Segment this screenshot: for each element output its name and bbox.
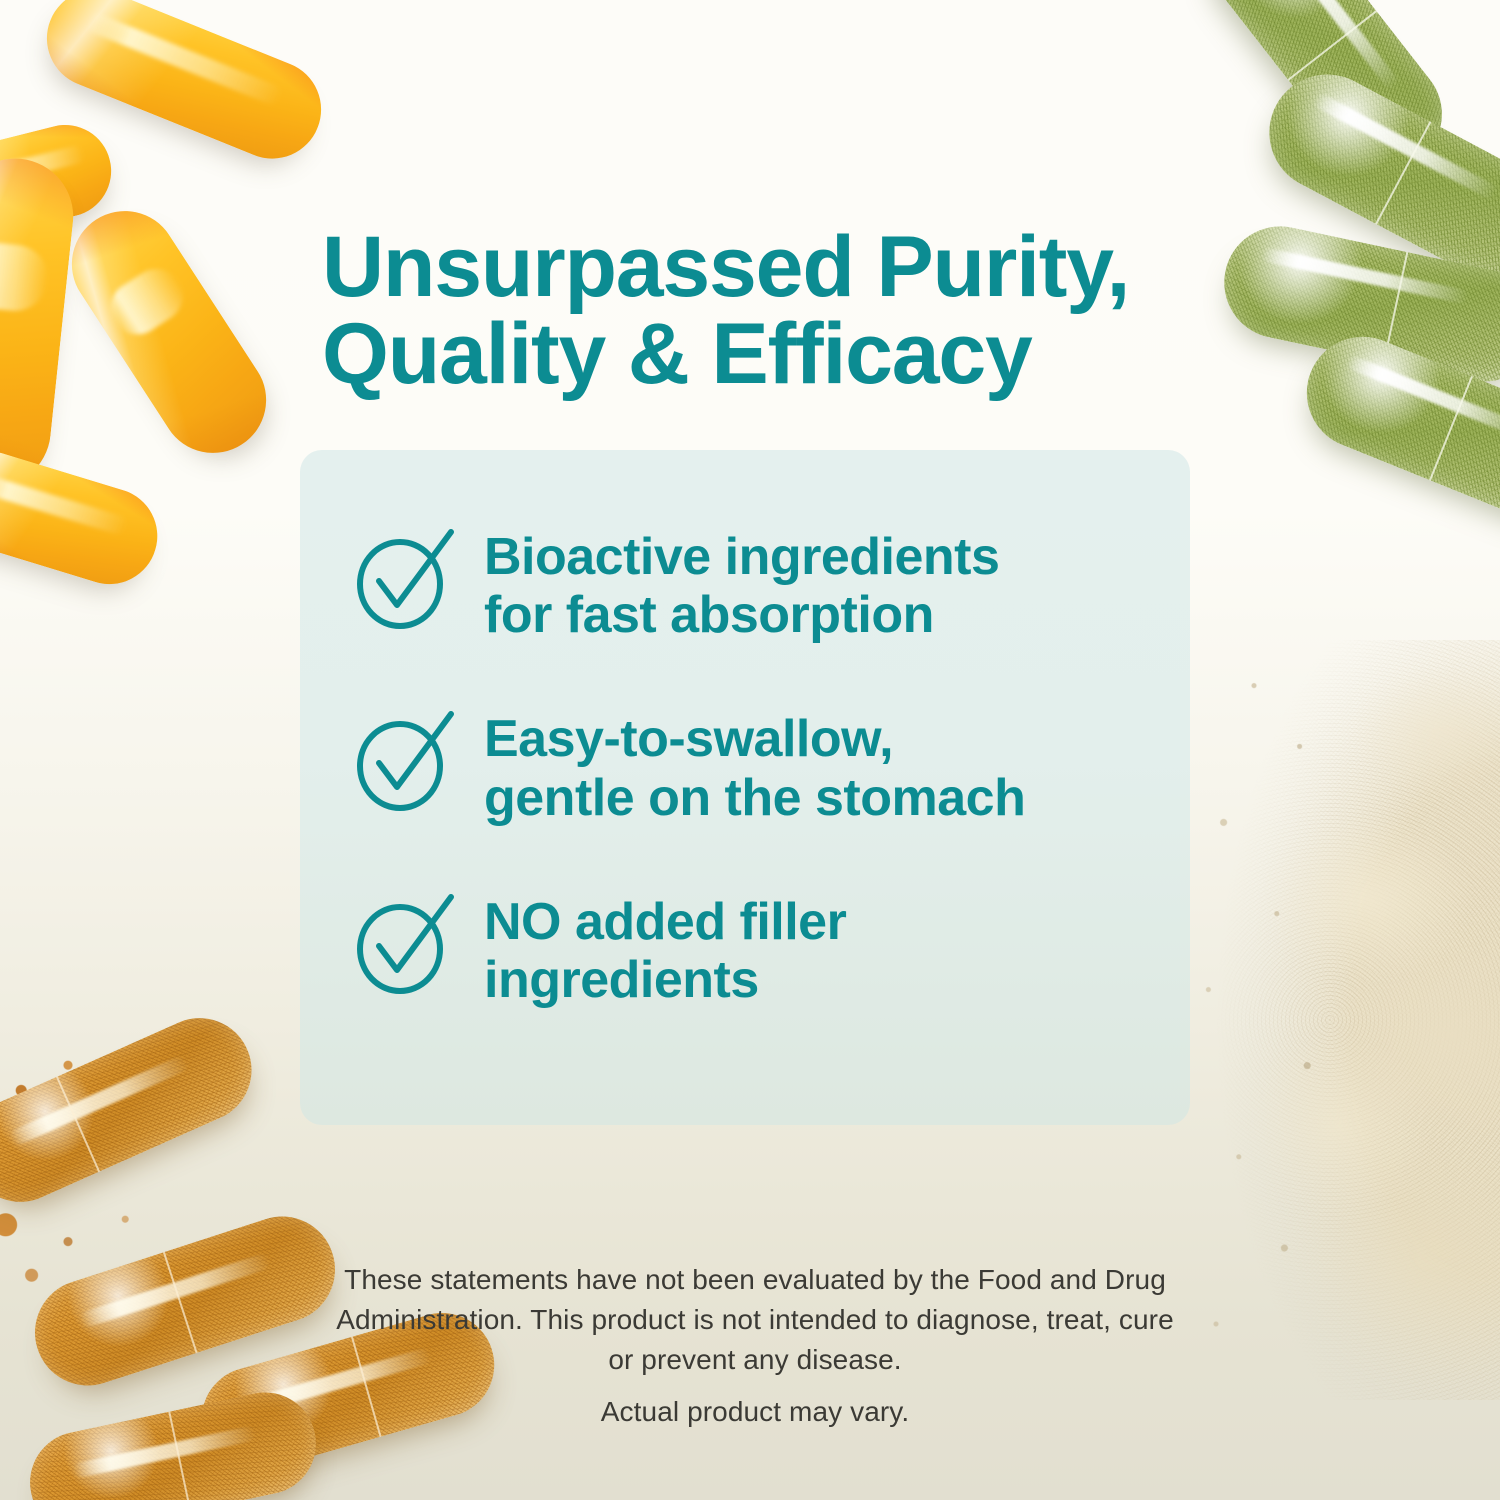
benefit-label: Bioactive ingredients for fast absorptio… (484, 520, 999, 644)
capsule-highlight (1345, 354, 1500, 442)
page-title-line-2: Quality & Efficacy (322, 311, 1222, 399)
benefit-label-line-1: Bioactive ingredients (484, 528, 999, 586)
softgel-capsule (52, 191, 287, 473)
protein-powder-specks (1140, 640, 1500, 1400)
benefit-label-line-2: ingredients (484, 951, 846, 1009)
capsule-highlight (1312, 91, 1500, 200)
page-title-line-1: Unsurpassed Purity, (322, 219, 1129, 315)
benefit-label-line-2: for fast absorption (484, 586, 999, 644)
product-variation-note: Actual product may vary. (330, 1396, 1180, 1428)
green-capsule (1192, 0, 1465, 193)
list-item: NO added filler ingredients (352, 885, 1152, 1009)
turmeric-capsule (21, 1383, 326, 1500)
capsule-highlight (78, 1252, 272, 1328)
capsule-highlight (8, 1054, 190, 1146)
softgel-capsule (0, 440, 169, 596)
benefit-label-line-1: Easy-to-swallow, (484, 710, 1025, 768)
check-circle-icon (352, 526, 456, 630)
capsule-joint (1375, 121, 1431, 224)
softgel-capsule (32, 0, 336, 173)
capsule-joint (163, 1252, 198, 1353)
softgel-capsule (0, 115, 121, 241)
product-benefits-infographic: Unsurpassed Purity, Quality & Efficacy B… (0, 0, 1500, 1500)
list-item: Easy-to-swallow, gentle on the stomach (352, 702, 1152, 826)
green-capsule (1214, 216, 1500, 392)
capsule-highlight (1267, 0, 1400, 91)
capsule-highlight (1260, 247, 1470, 305)
turmeric-capsule (21, 1203, 349, 1400)
green-capsule (1290, 320, 1500, 536)
benefit-label: NO added filler ingredients (484, 885, 846, 1009)
benefit-label: Easy-to-swallow, gentle on the stomach (484, 702, 1025, 826)
fda-disclaimer: These statements have not been evaluated… (330, 1260, 1180, 1379)
capsule-joint (168, 1411, 191, 1500)
capsule-joint (56, 1076, 100, 1172)
capsule-joint (1288, 10, 1377, 81)
page-title: Unsurpassed Purity, Quality & Efficacy (322, 224, 1222, 399)
capsule-joint (1429, 376, 1473, 481)
benefit-label-line-2: gentle on the stomach (484, 769, 1025, 827)
turmeric-powder-crumbs (0, 1040, 250, 1320)
capsule-highlight (72, 1425, 257, 1479)
benefits-list: Bioactive ingredients for fast absorptio… (352, 520, 1152, 1009)
list-item: Bioactive ingredients for fast absorptio… (352, 520, 1152, 644)
check-circle-icon (352, 708, 456, 812)
turmeric-capsule (0, 1001, 268, 1218)
softgel-capsule (0, 153, 79, 493)
capsule-joint (1383, 252, 1408, 362)
green-capsule (1249, 54, 1500, 302)
check-circle-icon (352, 891, 456, 995)
benefit-label-line-1: NO added filler (484, 893, 846, 951)
